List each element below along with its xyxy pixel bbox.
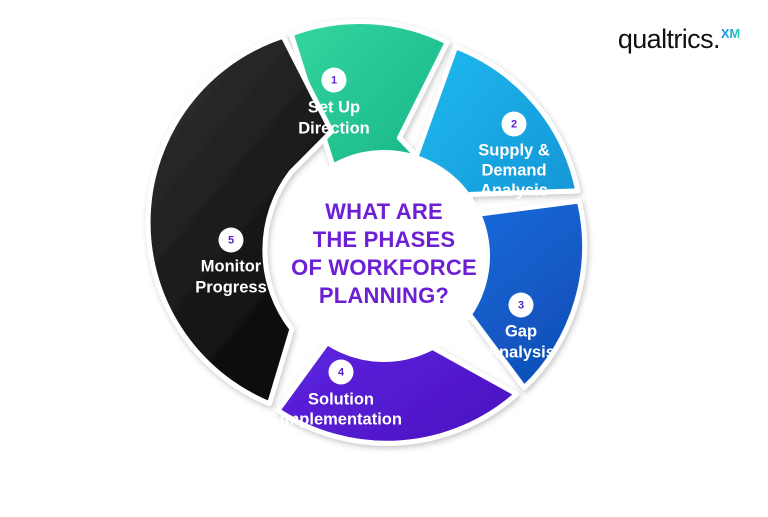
segment-5-number: 5 xyxy=(228,235,234,247)
logo-xm-superscript: XM xyxy=(721,27,740,40)
workforce-planning-infographic: qualtrics. XM xyxy=(0,0,768,512)
segment-3-label-line-1: Gap xyxy=(505,322,537,340)
segment-5-label-line-1: Monitor xyxy=(201,257,262,275)
segment-4-label-line-1: Solution xyxy=(308,390,374,408)
segment-1-label-line-2: Direction xyxy=(298,119,370,137)
center-title-line-3: OF WORKFORCE xyxy=(291,255,477,280)
segment-5-label-line-2: Progress xyxy=(195,278,267,296)
segment-3-label-line-2: Analysis xyxy=(487,343,555,361)
segment-1-number: 1 xyxy=(331,75,337,87)
segment-4-number: 4 xyxy=(338,367,345,379)
qualtrics-logo: qualtrics. XM xyxy=(618,26,740,53)
center-title-line-4: PLANNING? xyxy=(319,283,449,308)
logo-wordmark: qualtrics. xyxy=(618,26,720,53)
cycle-diagram: WHAT ARE THE PHASES OF WORKFORCE PLANNIN… xyxy=(0,0,768,512)
segment-3-number: 3 xyxy=(518,300,524,312)
segment-1-label-line-1: Set Up xyxy=(308,98,360,116)
center-title-line-2: THE PHASES xyxy=(313,227,456,252)
segment-2-label-line-1: Supply & xyxy=(478,141,550,159)
segment-2-number: 2 xyxy=(511,119,517,131)
center-title-line-1: WHAT ARE xyxy=(325,199,443,224)
segment-2-label-line-2: Demand xyxy=(481,161,546,179)
segment-2-label-line-3: Analysis xyxy=(480,181,548,199)
segment-4-label-line-2: Implementation xyxy=(280,410,402,428)
